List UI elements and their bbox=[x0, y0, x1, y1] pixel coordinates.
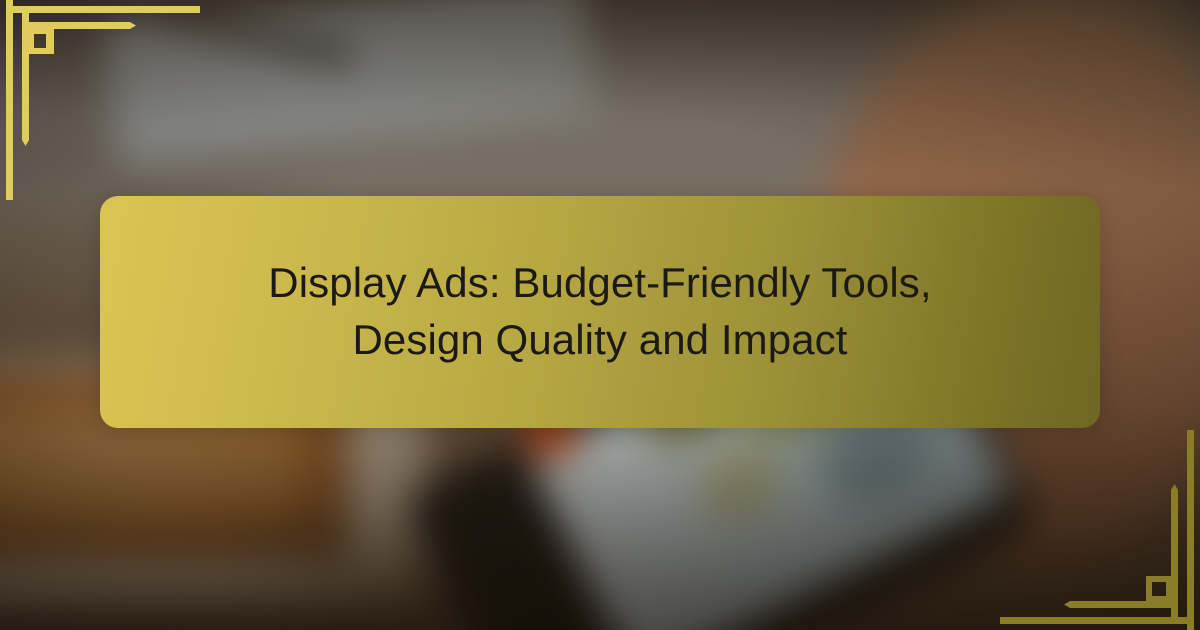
share-card-canvas: Display Ads: Budget-Friendly Tools, Desi… bbox=[0, 0, 1200, 630]
corner-ornament-top-left-icon bbox=[0, 0, 200, 200]
title-line-1: Display Ads: Budget-Friendly Tools, bbox=[268, 259, 931, 306]
title-card: Display Ads: Budget-Friendly Tools, Desi… bbox=[100, 196, 1100, 428]
page-title: Display Ads: Budget-Friendly Tools, Desi… bbox=[175, 255, 1025, 368]
title-line-2: Design Quality and Impact bbox=[352, 316, 847, 363]
corner-ornament-bottom-right-icon bbox=[1000, 430, 1200, 630]
